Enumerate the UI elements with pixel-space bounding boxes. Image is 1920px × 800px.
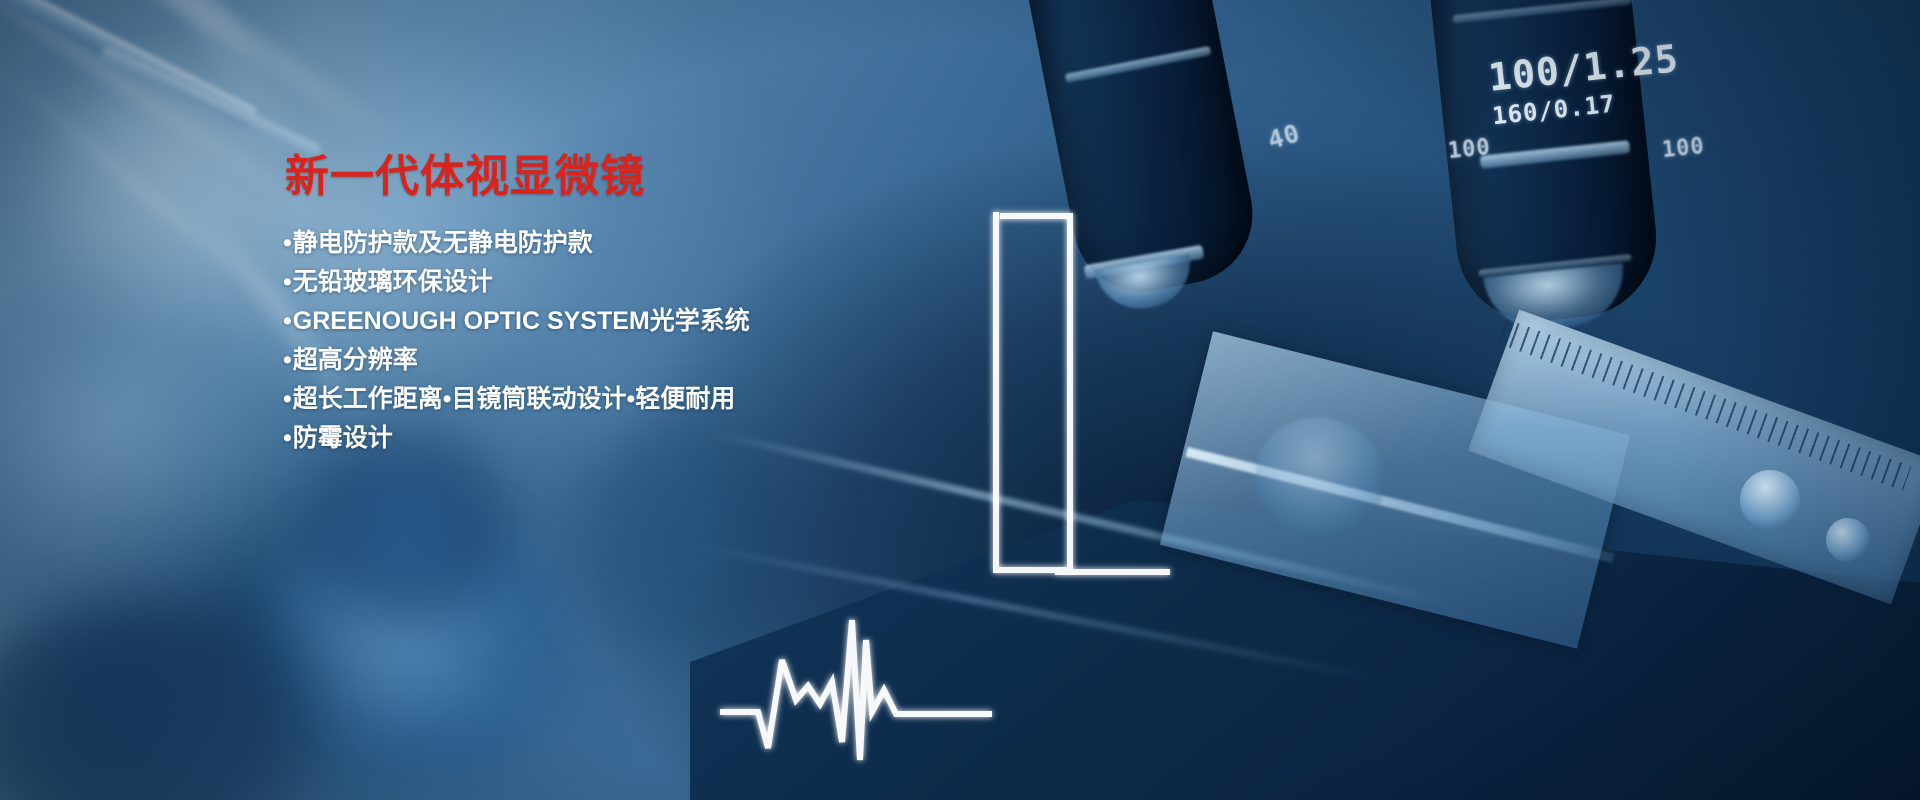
bullet-marker: • [283, 268, 292, 296]
bullet-marker: • [283, 307, 292, 335]
bullet-marker: • [283, 385, 292, 413]
feature-label: 防霉设计 [293, 424, 393, 452]
copy-block: 新一代体视显微镜 •静电防护款及无静电防护款 •无铅玻璃环保设计 •GREENO… [283, 155, 1043, 465]
product-banner: 100/1.25 160/0.17 40 100 100 [0, 0, 1920, 800]
feature-item: •超长工作距离•目镜筒联动设计•轻便耐用 [283, 387, 1043, 412]
feature-item: •防霉设计 [283, 426, 1043, 451]
feature-label: 静电防护款及无静电防护款 [293, 229, 593, 257]
bullet-marker: • [283, 346, 292, 374]
feature-item: •GREENOUGH OPTIC SYSTEM光学系统 [283, 309, 1043, 334]
bullet-marker: • [283, 424, 292, 452]
bullet-marker: • [283, 229, 292, 257]
feature-item: •静电防护款及无静电防护款 [283, 231, 1043, 256]
feature-item: •超高分辨率 [283, 348, 1043, 373]
feature-label: GREENOUGH OPTIC SYSTEM光学系统 [293, 307, 750, 335]
page-title: 新一代体视显微镜 [285, 155, 1043, 199]
feature-label: 超长工作距离•目镜筒联动设计•轻便耐用 [293, 385, 736, 413]
feature-label: 超高分辨率 [293, 346, 418, 374]
feature-item: •无铅玻璃环保设计 [283, 270, 1043, 295]
feature-label: 无铅玻璃环保设计 [293, 268, 493, 296]
